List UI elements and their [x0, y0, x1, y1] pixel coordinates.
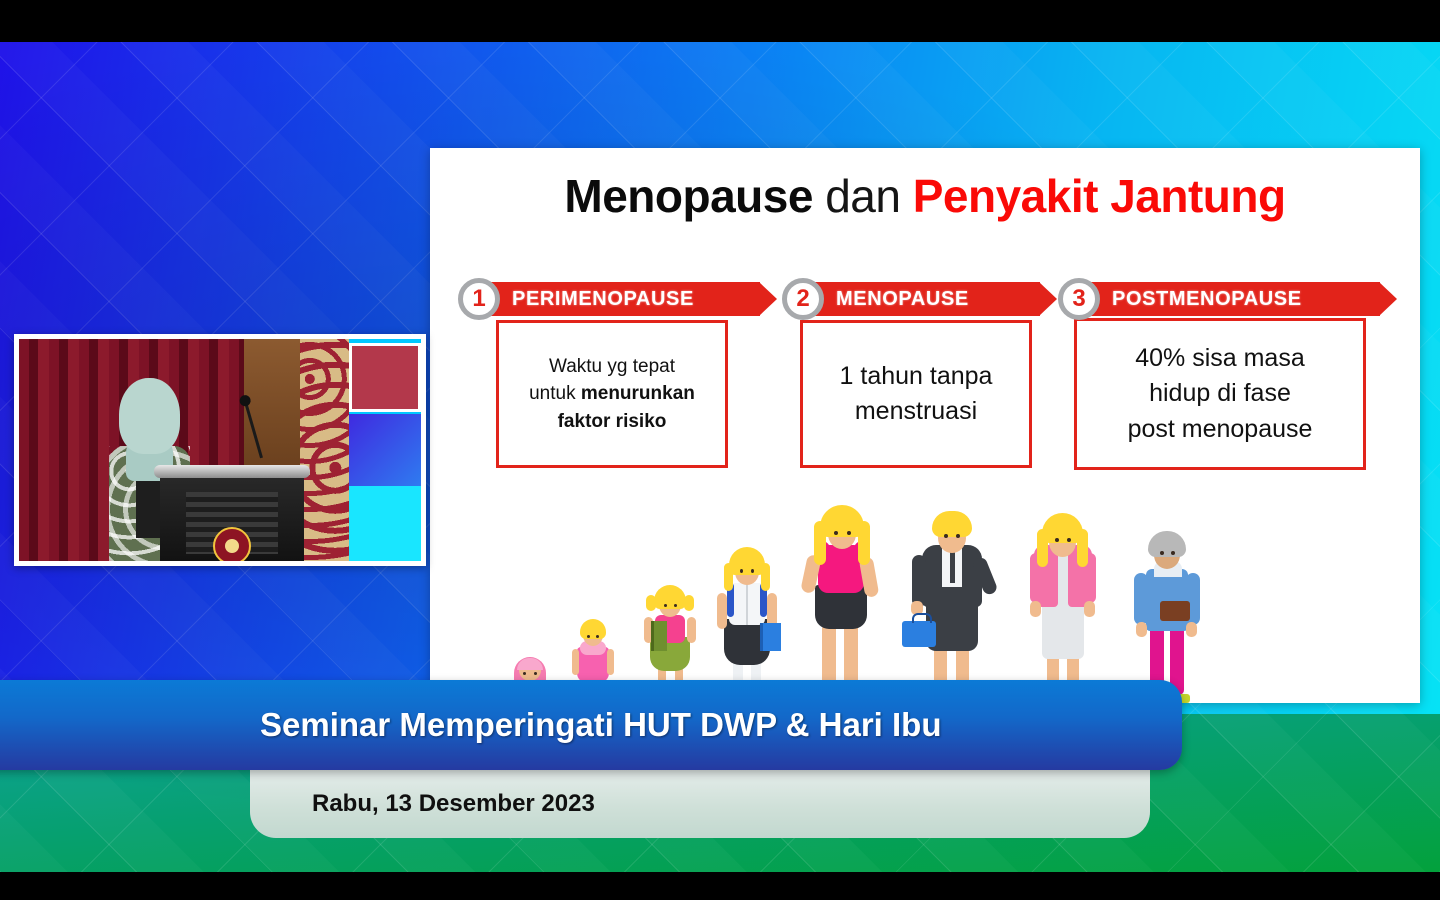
figure-young-woman [802, 503, 880, 703]
box-3-line-3: post menopause [1128, 415, 1313, 443]
book-icon [651, 621, 667, 651]
box-2-line-1: 1 tahun tanpa [840, 362, 993, 390]
briefcase-icon [902, 621, 936, 647]
side-screen-middle [349, 414, 421, 485]
box-2-line-2: menstruasi [855, 397, 977, 425]
date-pill: Rabu, 13 Desember 2023 [250, 770, 1150, 838]
step-1-bar: PERIMENOPAUSE [484, 282, 760, 316]
letterbox-top [0, 0, 1440, 42]
slide-title-part-2: dan [825, 170, 900, 222]
box-1-line-2-plain: untuk [529, 383, 581, 404]
podium [160, 472, 305, 561]
box-1-line-3: faktor risiko [558, 411, 667, 432]
video-feed [19, 339, 421, 561]
event-title-banner: Seminar Memperingati HUT DWP & Hari Ibu [0, 680, 1182, 770]
side-screen-bottom [349, 486, 421, 561]
figure-mature-woman [1022, 503, 1102, 703]
text-box-perimenopause: Waktu yg tepat untuk menurunkan faktor r… [496, 320, 728, 468]
step-2-arrow-icon [1039, 282, 1057, 316]
notebook-icon [760, 623, 781, 651]
speaker-hijab [119, 378, 180, 454]
event-title: Seminar Memperingati HUT DWP & Hari Ibu [0, 706, 942, 744]
figure-business-woman [908, 495, 994, 703]
speaker-video-thumbnail[interactable] [14, 334, 426, 566]
step-3-label: POSTMENOPAUSE [1084, 288, 1302, 311]
step-3-bar: POSTMENOPAUSE [1084, 282, 1380, 316]
letterbox-bottom [0, 872, 1440, 900]
institution-emblem [213, 527, 251, 561]
podium-top-edge [154, 465, 310, 478]
figure-elderly-woman [1130, 517, 1202, 703]
slide-title: Menopause dan Penyakit Jantung [430, 172, 1420, 220]
step-1-label: PERIMENOPAUSE [484, 288, 694, 311]
side-screen-top [349, 343, 421, 412]
step-3-arrow-icon [1379, 282, 1397, 316]
box-1-line-2-bold: menurunkan [581, 383, 695, 404]
presentation-stage: Menopause dan Penyakit Jantung PERIMENOP… [0, 0, 1440, 900]
figure-schoolgirl [716, 535, 778, 703]
life-stages-illustration [510, 473, 1350, 703]
stage-side-screen [349, 339, 421, 561]
step-3-number-badge: 3 [1058, 278, 1100, 320]
step-1-number-badge: 1 [458, 278, 500, 320]
slide-title-part-1: Menopause [564, 170, 813, 222]
step-2-label: MENOPAUSE [808, 288, 969, 311]
box-1-line-1: Waktu yg tepat [549, 356, 675, 377]
stage-batik-panel [300, 339, 348, 561]
box-3-line-1: 40% sisa masa [1135, 344, 1305, 372]
step-2-number-badge: 2 [782, 278, 824, 320]
purse-icon [1160, 601, 1190, 621]
stage-steps-row: PERIMENOPAUSE 1 MENOPAUSE 2 POSTMENOPAUS… [458, 278, 1392, 320]
shared-slide[interactable]: Menopause dan Penyakit Jantung PERIMENOP… [430, 148, 1420, 703]
event-date: Rabu, 13 Desember 2023 [250, 790, 595, 818]
text-box-menopause: 1 tahun tanpa menstruasi [800, 320, 1032, 468]
slide-title-part-3: Penyakit Jantung [913, 170, 1286, 222]
box-3-line-2: hidup di fase [1149, 379, 1291, 407]
step-1-arrow-icon [759, 282, 777, 316]
text-box-postmenopause: 40% sisa masa hidup di fase post menopau… [1074, 318, 1366, 470]
step-2-bar: MENOPAUSE [808, 282, 1040, 316]
